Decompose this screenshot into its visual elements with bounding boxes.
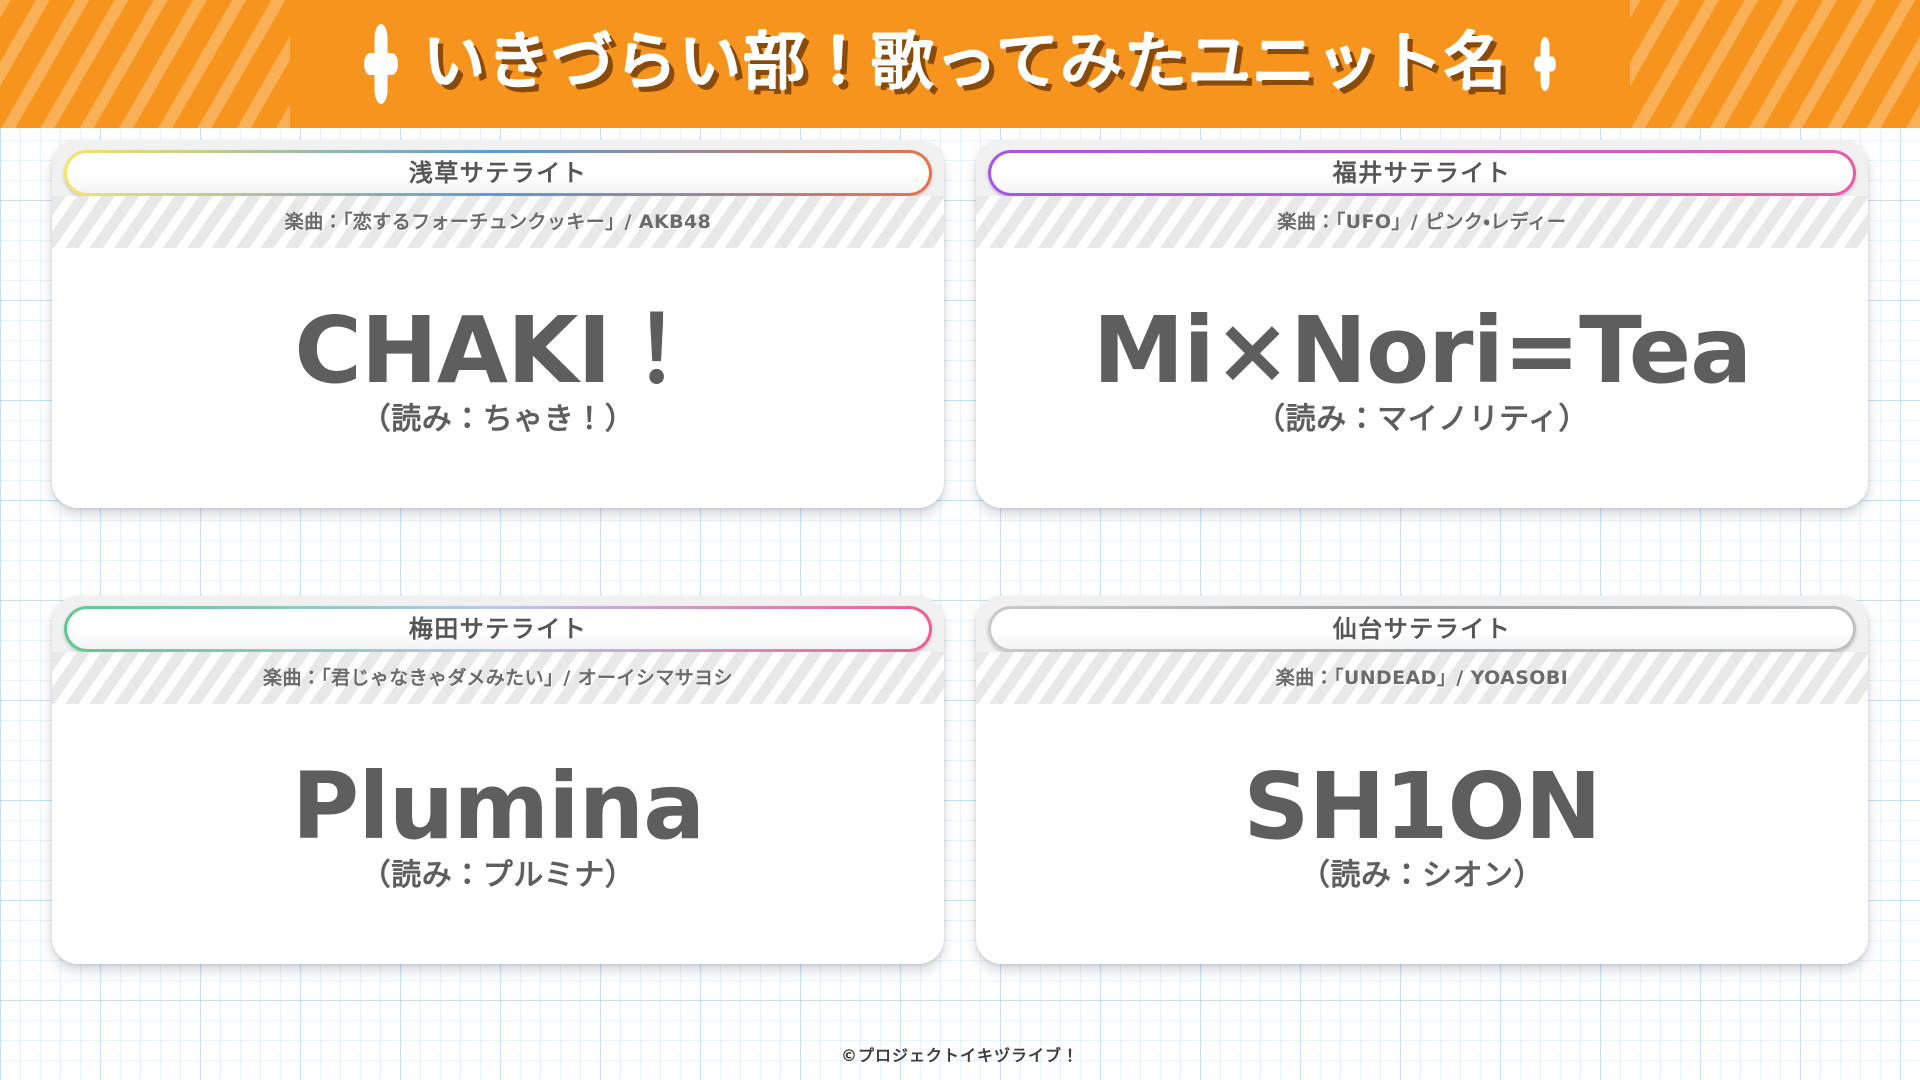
card-header: 仙台サテライト 楽曲：「UNDEAD」/ YOASOBI xyxy=(976,596,1868,704)
page-title: いきづらい部！歌ってみたユニット名 xyxy=(424,31,1509,93)
song-info-strip: 楽曲：「UFO」/ ピンク・レディー xyxy=(976,196,1868,248)
unit-name: Plumina xyxy=(292,760,704,854)
card-body: SH1ON （読み：シオン） xyxy=(976,704,1868,964)
song-info-label: 楽曲：「UFO」/ ピンク・レディー xyxy=(1278,213,1567,232)
unit-name: CHAKI！ xyxy=(294,304,701,398)
song-info-strip: 楽曲：「恋するフォーチュンクッキー」/ AKB48 xyxy=(52,196,944,248)
sparkle-icon xyxy=(364,24,398,104)
song-info-label: 楽曲：「恋するフォーチュンクッキー」/ AKB48 xyxy=(285,213,711,232)
team-name-pill: 福井サテライト xyxy=(988,150,1856,196)
unit-name: Mi×Nori=Tea xyxy=(1093,304,1751,398)
team-name-pill: 仙台サテライト xyxy=(988,606,1856,652)
copyright-label: ©プロジェクトイキヅライブ！ xyxy=(841,1046,1079,1065)
team-name-pill: 梅田サテライト xyxy=(64,606,932,652)
footer: ©プロジェクトイキヅライブ！ xyxy=(0,1042,1920,1066)
unit-name: SH1ON xyxy=(1243,760,1600,854)
team-name-label: 浅草サテライト xyxy=(409,161,588,185)
unit-card: 福井サテライト 楽曲：「UFO」/ ピンク・レディー Mi×Nori=Tea （… xyxy=(976,140,1868,508)
unit-card: 梅田サテライト 楽曲：「君じゃなきゃダメみたい」/ オーイシマサヨシ Plumi… xyxy=(52,596,944,964)
card-body: CHAKI！ （読み：ちゃき！） xyxy=(52,248,944,508)
sparkle-icon xyxy=(1534,37,1556,91)
unit-card-grid: 浅草サテライト 楽曲：「恋するフォーチュンクッキー」/ AKB48 CHAKI！… xyxy=(0,130,1920,1030)
card-body: Plumina （読み：プルミナ） xyxy=(52,704,944,964)
song-info-label: 楽曲：「君じゃなきゃダメみたい」/ オーイシマサヨシ xyxy=(263,669,733,688)
card-header: 浅草サテライト 楽曲：「恋するフォーチュンクッキー」/ AKB48 xyxy=(52,140,944,248)
team-name-label: 梅田サテライト xyxy=(409,617,588,641)
page-header: いきづらい部！歌ってみたユニット名 xyxy=(0,0,1920,128)
team-name-label: 福井サテライト xyxy=(1333,161,1512,185)
card-header: 福井サテライト 楽曲：「UFO」/ ピンク・レディー xyxy=(976,140,1868,248)
song-info-label: 楽曲：「UNDEAD」/ YOASOBI xyxy=(1276,669,1568,688)
unit-reading: （読み：シオン） xyxy=(1300,859,1544,892)
team-name-pill: 浅草サテライト xyxy=(64,150,932,196)
song-info-strip: 楽曲：「君じゃなきゃダメみたい」/ オーイシマサヨシ xyxy=(52,652,944,704)
team-name-label: 仙台サテライト xyxy=(1333,617,1512,641)
unit-reading: （読み：ちゃき！） xyxy=(361,403,636,436)
card-header: 梅田サテライト 楽曲：「君じゃなきゃダメみたい」/ オーイシマサヨシ xyxy=(52,596,944,704)
song-info-strip: 楽曲：「UNDEAD」/ YOASOBI xyxy=(976,652,1868,704)
unit-reading: （読み：マイノリティ） xyxy=(1255,403,1589,436)
unit-reading: （読み：プルミナ） xyxy=(361,859,636,892)
unit-card: 浅草サテライト 楽曲：「恋するフォーチュンクッキー」/ AKB48 CHAKI！… xyxy=(52,140,944,508)
card-body: Mi×Nori=Tea （読み：マイノリティ） xyxy=(976,248,1868,508)
unit-card: 仙台サテライト 楽曲：「UNDEAD」/ YOASOBI SH1ON （読み：シ… xyxy=(976,596,1868,964)
